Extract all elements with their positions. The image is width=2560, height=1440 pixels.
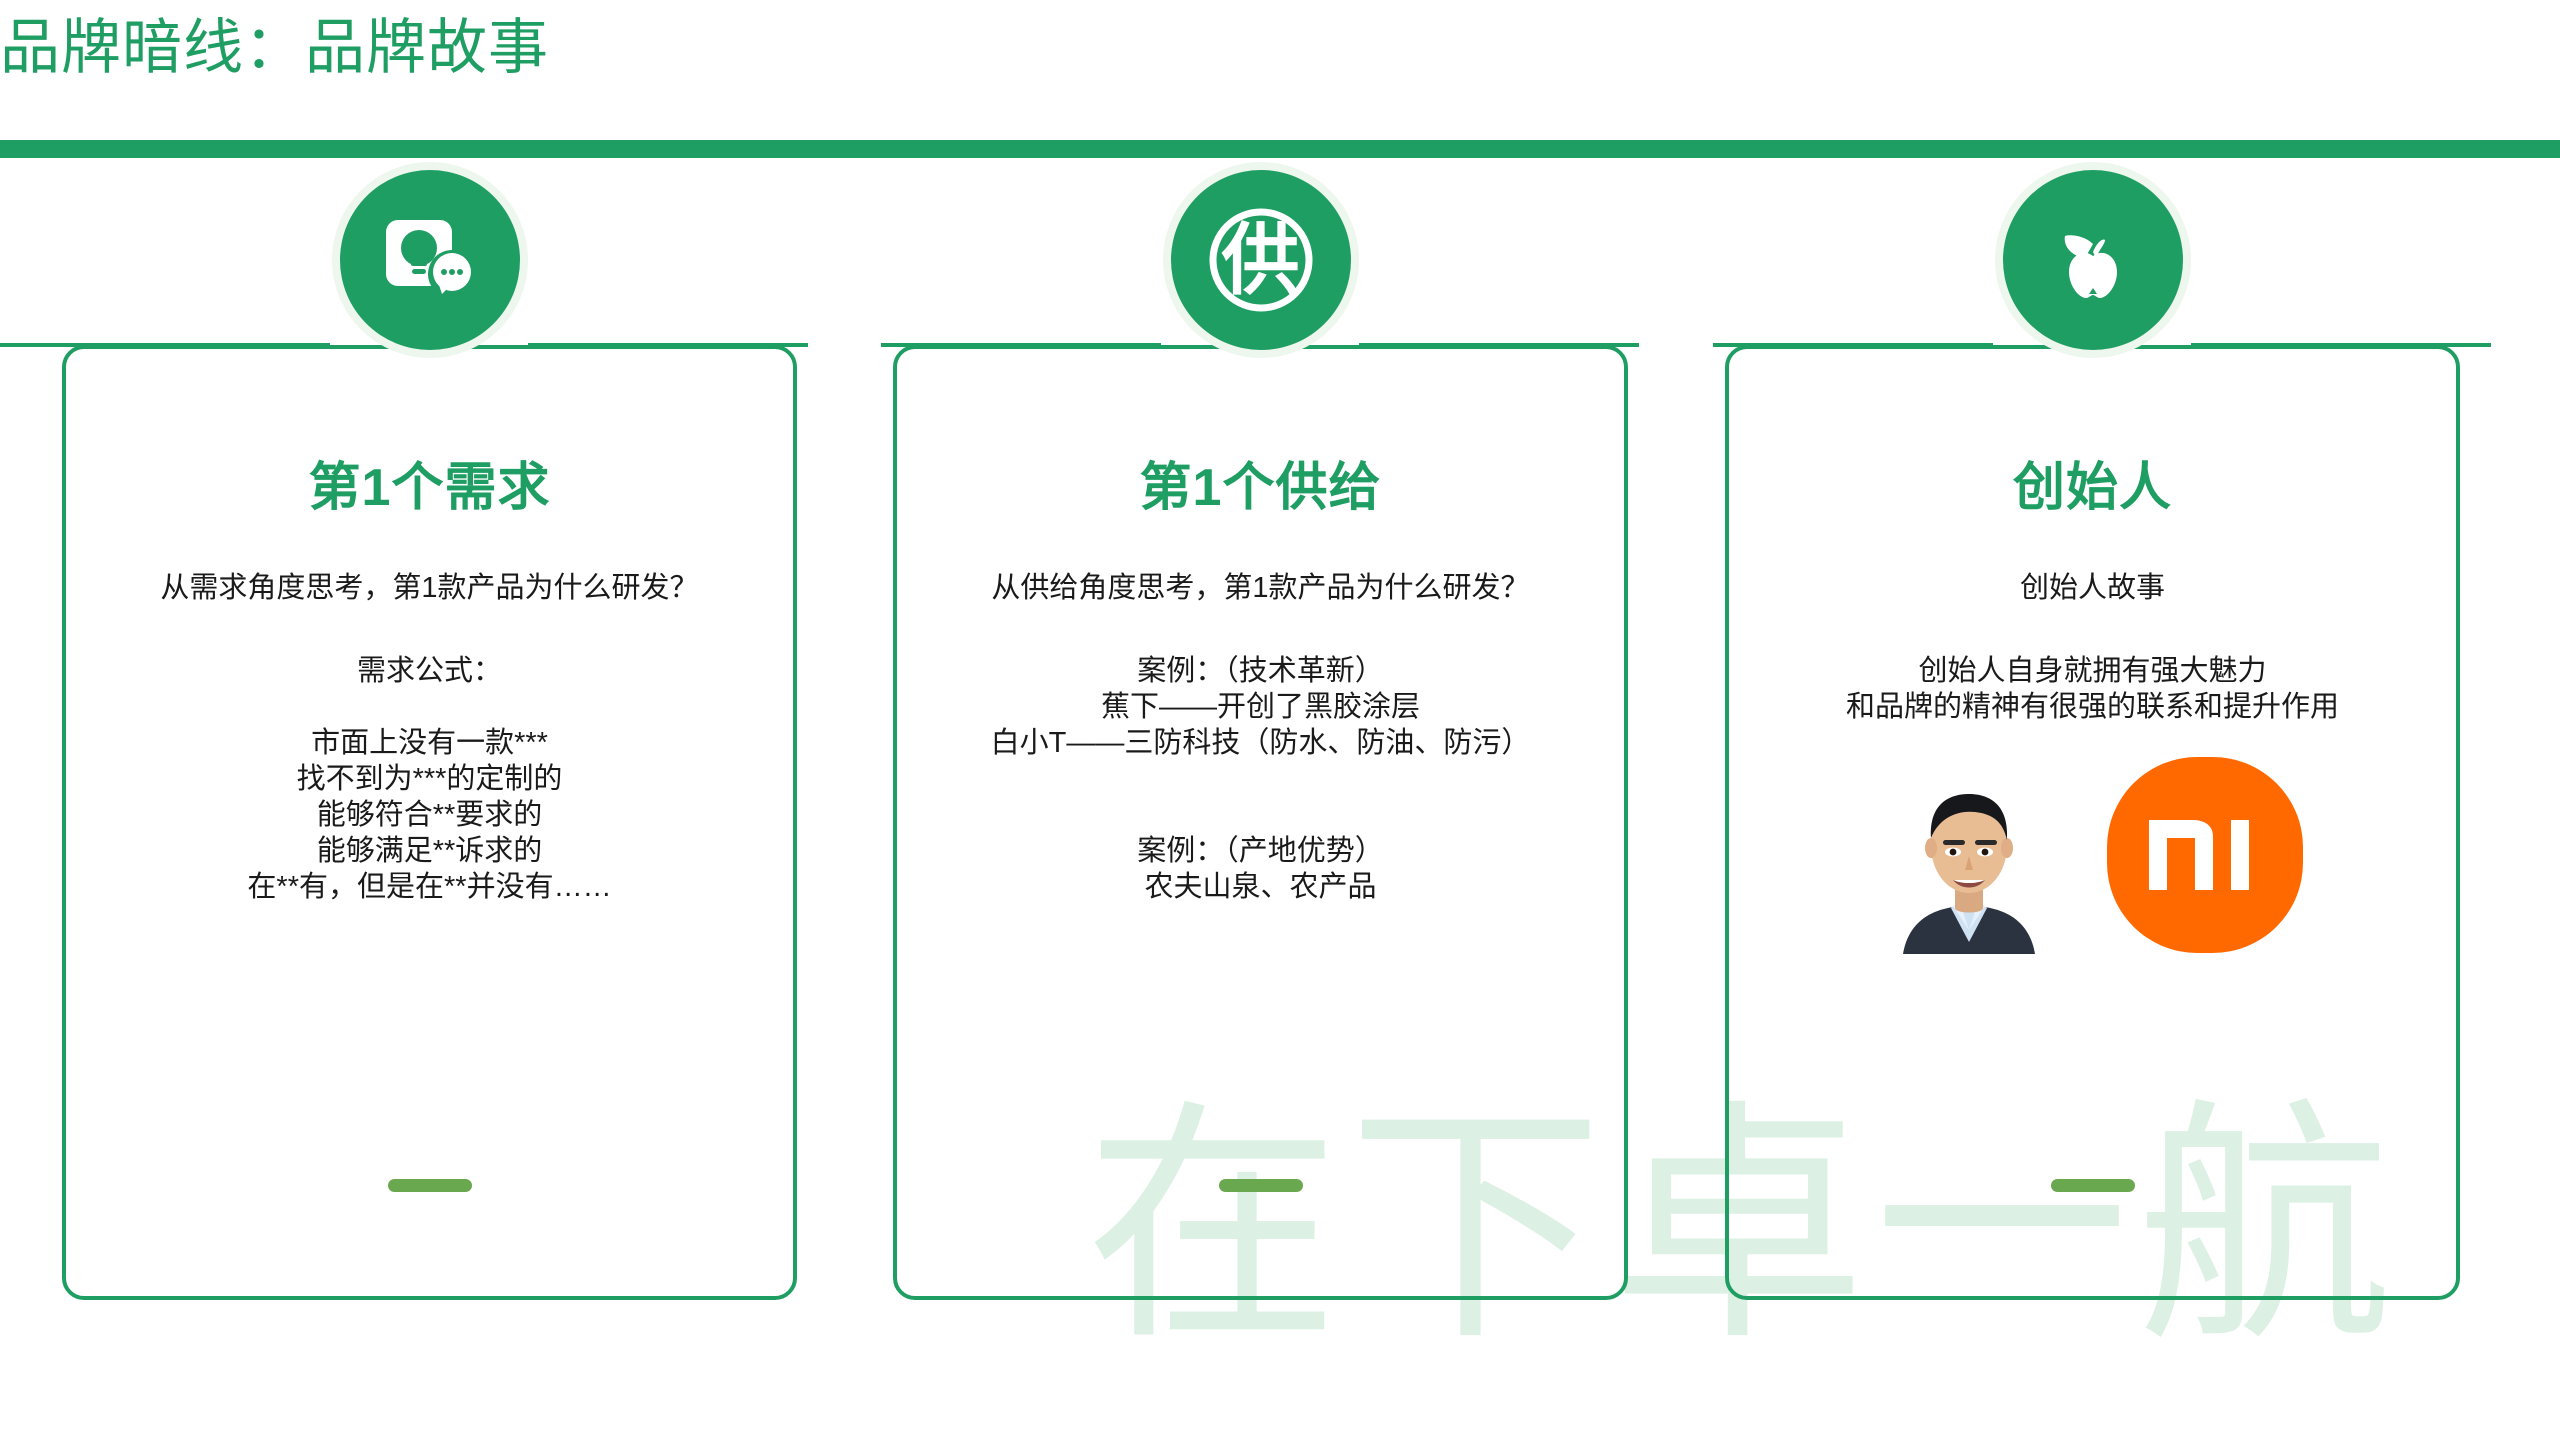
card-bottom-dash bbox=[1219, 1179, 1303, 1192]
card-bottom-dash bbox=[2051, 1179, 2135, 1192]
card-content: 第1个需求 从需求角度思考，第1款产品为什么研发？ 需求公式： 市面上没有一款*… bbox=[62, 345, 797, 1300]
body-line: 能够满足**诉求的 bbox=[88, 834, 771, 870]
cards-container: 第1个需求 从需求角度思考，第1款产品为什么研发？ 需求公式： 市面上没有一款*… bbox=[0, 0, 2560, 1440]
body-line: 蕉下——开创了黑胶涂层 bbox=[919, 690, 1602, 726]
card-title: 创始人 bbox=[1751, 460, 2434, 517]
founder-media-row bbox=[1751, 756, 2434, 954]
body-line: 农夫山泉、农产品 bbox=[919, 870, 1602, 906]
apple-icon bbox=[2003, 170, 2183, 350]
founder-portrait bbox=[1883, 756, 2055, 954]
body-line: 市面上没有一款*** bbox=[88, 726, 771, 762]
gong-character-label: 供 bbox=[1221, 221, 1299, 299]
body-line: 能够符合**要求的 bbox=[88, 798, 771, 834]
card-subtitle: 从需求角度思考，第1款产品为什么研发？ bbox=[88, 569, 771, 608]
gong-character-icon: 供 bbox=[1171, 170, 1351, 350]
body-line-spacer bbox=[919, 762, 1602, 798]
body-line-spacer bbox=[88, 690, 771, 726]
card-supply[interactable]: 供 第1个供给 从供给角度思考，第1款产品为什么研发？ 案例：（技术革新） 蕉下… bbox=[893, 345, 1628, 1300]
card-subtitle: 创始人故事 bbox=[1751, 569, 2434, 608]
card-title: 第1个需求 bbox=[88, 460, 771, 517]
body-line: 找不到为***的定制的 bbox=[88, 762, 771, 798]
xiaomi-mi-logo bbox=[2107, 757, 2303, 953]
card-body: 需求公式： 市面上没有一款*** 找不到为***的定制的 能够符合**要求的 能… bbox=[88, 654, 771, 906]
body-line: 需求公式： bbox=[88, 654, 771, 690]
body-line: 案例：（产地优势） bbox=[919, 834, 1602, 870]
body-line: 白小T——三防科技（防水、防油、防污） bbox=[919, 726, 1602, 762]
card-body: 创始人自身就拥有强大魅力 和品牌的精神有很强的联系和提升作用 bbox=[1751, 654, 2434, 726]
lightbulb-chat-icon bbox=[340, 170, 520, 350]
card-demand[interactable]: 第1个需求 从需求角度思考，第1款产品为什么研发？ 需求公式： 市面上没有一款*… bbox=[62, 345, 797, 1300]
card-content: 第1个供给 从供给角度思考，第1款产品为什么研发？ 案例：（技术革新） 蕉下——… bbox=[893, 345, 1628, 1300]
body-line: 创始人自身就拥有强大魅力 bbox=[1751, 654, 2434, 690]
body-line: 和品牌的精神有很强的联系和提升作用 bbox=[1751, 690, 2434, 726]
card-body: 案例：（技术革新） 蕉下——开创了黑胶涂层 白小T——三防科技（防水、防油、防污… bbox=[919, 654, 1602, 906]
card-title: 第1个供给 bbox=[919, 460, 1602, 517]
card-bottom-dash bbox=[388, 1179, 472, 1192]
card-founder[interactable]: 创始人 创始人故事 创始人自身就拥有强大魅力 和品牌的精神有很强的联系和提升作用 bbox=[1725, 345, 2460, 1300]
body-line: 在**有，但是在**并没有…… bbox=[88, 870, 771, 906]
card-content: 创始人 创始人故事 创始人自身就拥有强大魅力 和品牌的精神有很强的联系和提升作用 bbox=[1725, 345, 2460, 1300]
card-subtitle: 从供给角度思考，第1款产品为什么研发？ bbox=[919, 569, 1602, 608]
body-line: 案例：（技术革新） bbox=[919, 654, 1602, 690]
